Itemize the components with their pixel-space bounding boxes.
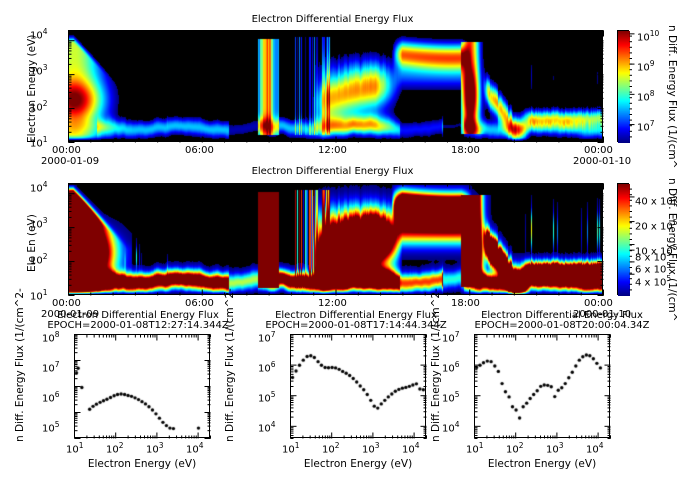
spectrum-3-ytick-0: 107 [442, 330, 460, 344]
middle-ytick-3: 101 [30, 288, 48, 302]
spectrum-3-xtick-1: 102 [506, 441, 524, 455]
top-colorbar-tick-3: 107 [637, 119, 655, 133]
top-ytick-3: 101 [30, 135, 48, 149]
middle-xtick-1: 06:00 [185, 298, 214, 309]
spectrum-1-subtitle: EPOCH=2000-01-08T12:27:14.344Z [28, 320, 248, 331]
top-colorbar-tick-2: 108 [637, 89, 655, 103]
middle-ytick-2: 102 [30, 252, 48, 266]
middle-panel-title: Electron Differential Energy Flux [0, 166, 665, 177]
spectrum-2-xtick-3: 104 [402, 441, 420, 455]
spectrum-3-ytick-2: 105 [442, 390, 460, 404]
spectrum-2-ytick-2: 105 [258, 390, 276, 404]
middle-xtick-4: 00:00 [584, 298, 613, 309]
spectrum-1-xtick-2: 103 [146, 441, 164, 455]
spectrum-1-ytick-3: 105 [42, 420, 60, 434]
top-colorbar [617, 30, 629, 142]
spectrum-3-subtitle: EPOCH=2000-01-08T20:00:04.34Z [452, 320, 672, 331]
spectrum-3-xtick-2: 103 [546, 441, 564, 455]
top-xtick-4: 00:00 [584, 145, 613, 156]
middle-ytick-0: 104 [30, 180, 48, 194]
top-panel-title: Electron Differential Energy Flux [0, 14, 665, 25]
spectrum-2-xtick-0: 101 [282, 441, 300, 455]
spectrum-2-ytick-1: 106 [258, 360, 276, 374]
spectrum-1-xtick-3: 104 [186, 441, 204, 455]
top-colorbar-tick-0: 1010 [637, 29, 659, 43]
middle-plot-frame [68, 183, 603, 295]
top-ytick-0: 104 [30, 27, 48, 41]
spectrum-2-xtick-2: 103 [362, 441, 380, 455]
middle-ytick-1: 103 [30, 216, 48, 230]
spectrum-1-ytick-2: 106 [42, 390, 60, 404]
spectrum-1-ytick-1: 107 [42, 360, 60, 374]
spectrum-2-xlabel: Electron Energy (eV) [290, 458, 426, 470]
top-xtick-1: 06:00 [185, 145, 214, 156]
middle-xtick-3: 18:00 [451, 298, 480, 309]
spectrum-2-frame [290, 334, 426, 438]
spectrum-3-xlabel: Electron Energy (eV) [474, 458, 610, 470]
spectrum-2-ytick-0: 107 [258, 330, 276, 344]
spectrum-1-xtick-1: 102 [106, 441, 124, 455]
top-xtick-2: 12:00 [318, 145, 347, 156]
spectrum-3-xtick-0: 101 [466, 441, 484, 455]
top-xtick-0: 00:00 [52, 145, 81, 156]
spectrum-3-frame [474, 334, 610, 438]
spectrum-3-xtick-3: 104 [586, 441, 604, 455]
spectrum-1-ytick-0: 108 [42, 330, 60, 344]
spectrum-1-xlabel: Electron Energy (eV) [74, 458, 210, 470]
middle-colorbar [617, 183, 629, 295]
spectrum-2-xtick-1: 102 [322, 441, 340, 455]
spectrum-1-frame [74, 334, 210, 438]
top-colorbar-tick-1: 109 [637, 59, 655, 73]
spectrum-1-xtick-0: 101 [66, 441, 84, 455]
middle-xtick-2: 12:00 [318, 298, 347, 309]
top-ytick-2: 102 [30, 99, 48, 113]
spectrum-2-ytick-3: 104 [258, 420, 276, 434]
spectrum-3-ytick-3: 104 [442, 420, 460, 434]
top-xtick-3: 18:00 [451, 145, 480, 156]
middle-xtick-0: 00:00 [52, 298, 81, 309]
spectrum-3-ytick-1: 106 [442, 360, 460, 374]
top-plot-frame [68, 30, 603, 142]
top-ytick-1: 103 [30, 63, 48, 77]
